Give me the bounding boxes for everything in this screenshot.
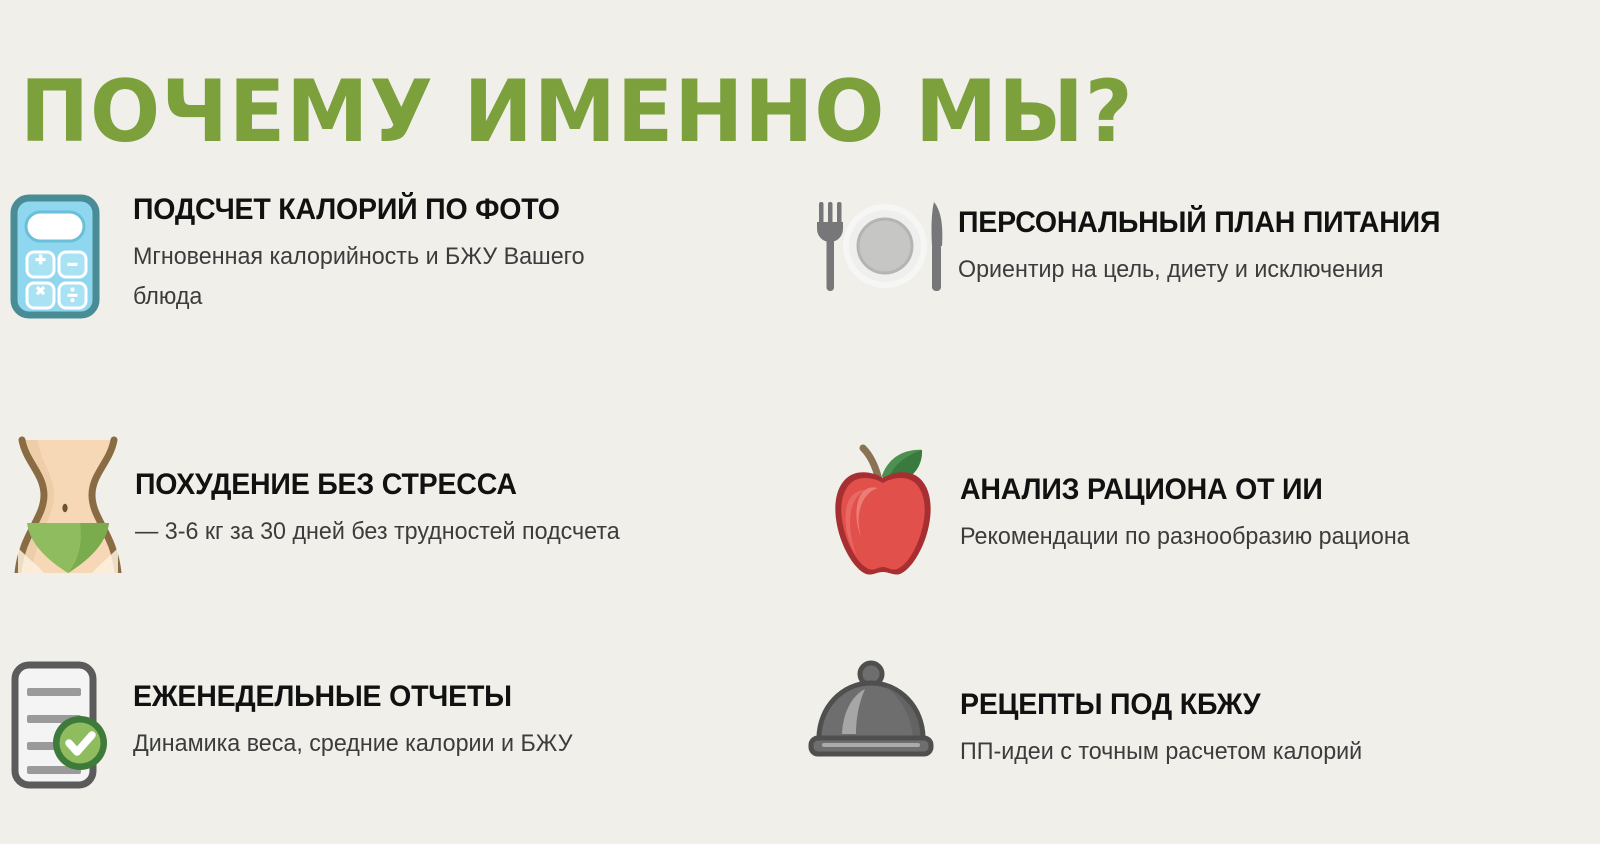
- feature-description: Мгновенная калорийность и БЖУ Вашего блю…: [133, 237, 657, 317]
- apple-icon: [808, 428, 960, 578]
- features-page: ПОЧЕМУ ИМЕННО МЫ?: [0, 0, 1600, 844]
- page-title: ПОЧЕМУ ИМЕННО МЫ?: [20, 64, 1134, 160]
- calculator-icon: [8, 188, 133, 328]
- features-grid: ПОДСЧЕТ КАЛОРИЙ ПО ФОТО Мгновенная калор…: [0, 180, 1600, 820]
- feature-description: Ориентир на цель, диету и исключения: [958, 250, 1450, 290]
- feature-description: Динамика веса, средние калории и БЖУ: [133, 724, 573, 764]
- feature-item-meal-plan[interactable]: ПЕРСОНАЛЬНЫЙ ПЛАН ПИТАНИЯ Ориентир на це…: [808, 188, 1466, 308]
- plate-fork-knife-icon: [808, 188, 958, 308]
- feature-heading: АНАЛИЗ РАЦИОНА ОТ ИИ: [960, 473, 1400, 507]
- slim-waist-icon: [8, 428, 135, 573]
- report-check-icon: [8, 658, 133, 793]
- feature-item-weight-loss[interactable]: ПОХУДЕНИЕ БЕЗ СТРЕССА — 3-6 кг за 30 дне…: [8, 428, 635, 573]
- feature-heading: ПОДСЧЕТ КАЛОРИЙ ПО ФОТО: [133, 193, 646, 227]
- feature-text: ПОХУДЕНИЕ БЕЗ СТРЕССА — 3-6 кг за 30 дне…: [135, 428, 635, 552]
- feature-heading: ПОХУДЕНИЕ БЕЗ СТРЕССА: [135, 468, 610, 502]
- cloche-icon: [808, 658, 960, 778]
- feature-description: Рекомендации по разнообразию рациона: [960, 517, 1410, 557]
- feature-text: РЕЦЕПТЫ ПОД КБЖУ ПП-идеи с точным расчет…: [960, 658, 1375, 772]
- feature-item-weekly-reports[interactable]: ЕЖЕНЕДЕЛЬНЫЕ ОТЧЕТЫ Динамика веса, средн…: [8, 658, 586, 793]
- feature-description: — 3-6 кг за 30 дней без трудностей подсч…: [135, 512, 620, 552]
- feature-description: ПП-идеи с точным расчетом калорий: [960, 732, 1362, 772]
- feature-text: ПЕРСОНАЛЬНЫЙ ПЛАН ПИТАНИЯ Ориентир на це…: [958, 188, 1466, 290]
- feature-item-recipes[interactable]: РЕЦЕПТЫ ПОД КБЖУ ПП-идеи с точным расчет…: [808, 658, 1375, 778]
- feature-heading: ПЕРСОНАЛЬНЫЙ ПЛАН ПИТАНИЯ: [958, 206, 1440, 240]
- feature-item-ai-analysis[interactable]: АНАЛИЗ РАЦИОНА ОТ ИИ Рекомендации по раз…: [808, 428, 1424, 578]
- feature-text: ЕЖЕНЕДЕЛЬНЫЕ ОТЧЕТЫ Динамика веса, средн…: [133, 658, 586, 764]
- feature-text: АНАЛИЗ РАЦИОНА ОТ ИИ Рекомендации по раз…: [960, 428, 1424, 557]
- feature-heading: РЕЦЕПТЫ ПОД КБЖУ: [960, 688, 1354, 722]
- feature-heading: ЕЖЕНЕДЕЛЬНЫЕ ОТЧЕТЫ: [133, 680, 563, 714]
- feature-item-calorie-photo[interactable]: ПОДСЧЕТ КАЛОРИЙ ПО ФОТО Мгновенная калор…: [8, 188, 673, 328]
- feature-text: ПОДСЧЕТ КАЛОРИЙ ПО ФОТО Мгновенная калор…: [133, 188, 673, 317]
